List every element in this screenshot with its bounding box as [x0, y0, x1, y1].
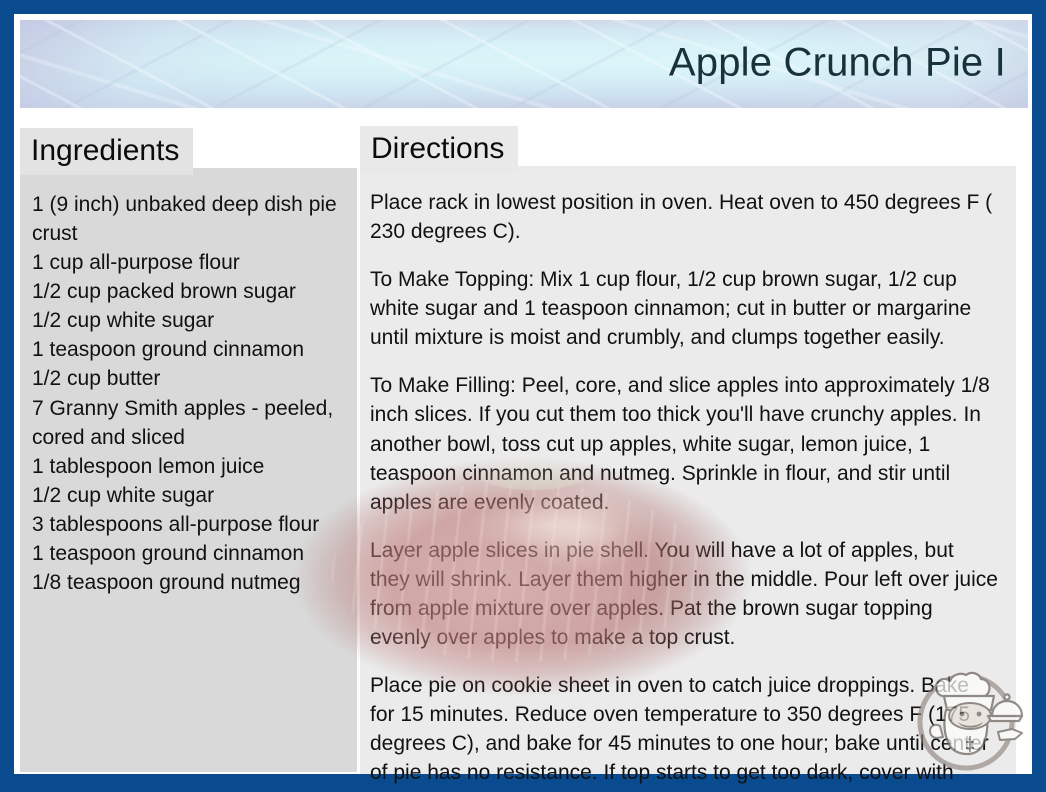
directions-panel: Place rack in lowest position in oven. H… — [360, 166, 1016, 774]
ingredient-item: 1 cup all-purpose flour — [32, 248, 345, 277]
frame-border-right — [1032, 0, 1046, 792]
page-title: Apple Crunch Pie I — [669, 41, 1006, 86]
direction-paragraph: Place rack in lowest position in oven. H… — [370, 188, 998, 246]
direction-paragraph: To Make Topping: Mix 1 cup flour, 1/2 cu… — [370, 265, 998, 352]
ingredient-item: 3 tablespoons all-purpose flour — [32, 510, 345, 539]
ingredients-heading: Ingredients — [20, 128, 193, 175]
ingredient-item: 1/2 cup butter — [32, 364, 345, 393]
direction-paragraph: To Make Filling: Peel, core, and slice a… — [370, 371, 998, 516]
header-banner: Apple Crunch Pie I — [20, 20, 1028, 108]
ingredient-item: 1/2 cup white sugar — [32, 306, 345, 335]
ingredient-item: 1 teaspoon ground cinnamon — [32, 335, 345, 364]
directions-text: Place rack in lowest position in oven. H… — [370, 188, 998, 792]
ingredient-item: 1/2 cup white sugar — [32, 481, 345, 510]
directions-heading: Directions — [360, 126, 518, 173]
ingredient-item: 1 (9 inch) unbaked deep dish pie crust — [32, 190, 345, 248]
ingredients-panel: 1 (9 inch) unbaked deep dish pie crust1 … — [20, 168, 357, 772]
ingredients-list: 1 (9 inch) unbaked deep dish pie crust1 … — [32, 190, 345, 597]
ingredient-item: 1 tablespoon lemon juice — [32, 452, 345, 481]
direction-paragraph: Place pie on cookie sheet in oven to cat… — [370, 671, 998, 792]
ingredient-item: 1 teaspoon ground cinnamon — [32, 539, 345, 568]
frame-border-left — [0, 0, 14, 792]
direction-paragraph: Layer apple slices in pie shell. You wil… — [370, 536, 998, 652]
ingredient-item: 7 Granny Smith apples - peeled, cored an… — [32, 394, 345, 452]
recipe-slide: Apple Crunch Pie I Ingredients 1 (9 inch… — [0, 0, 1046, 792]
ingredient-item: 1/8 teaspoon ground nutmeg — [32, 568, 345, 597]
frame-border-top — [0, 0, 1046, 14]
ingredient-item: 1/2 cup packed brown sugar — [32, 277, 345, 306]
